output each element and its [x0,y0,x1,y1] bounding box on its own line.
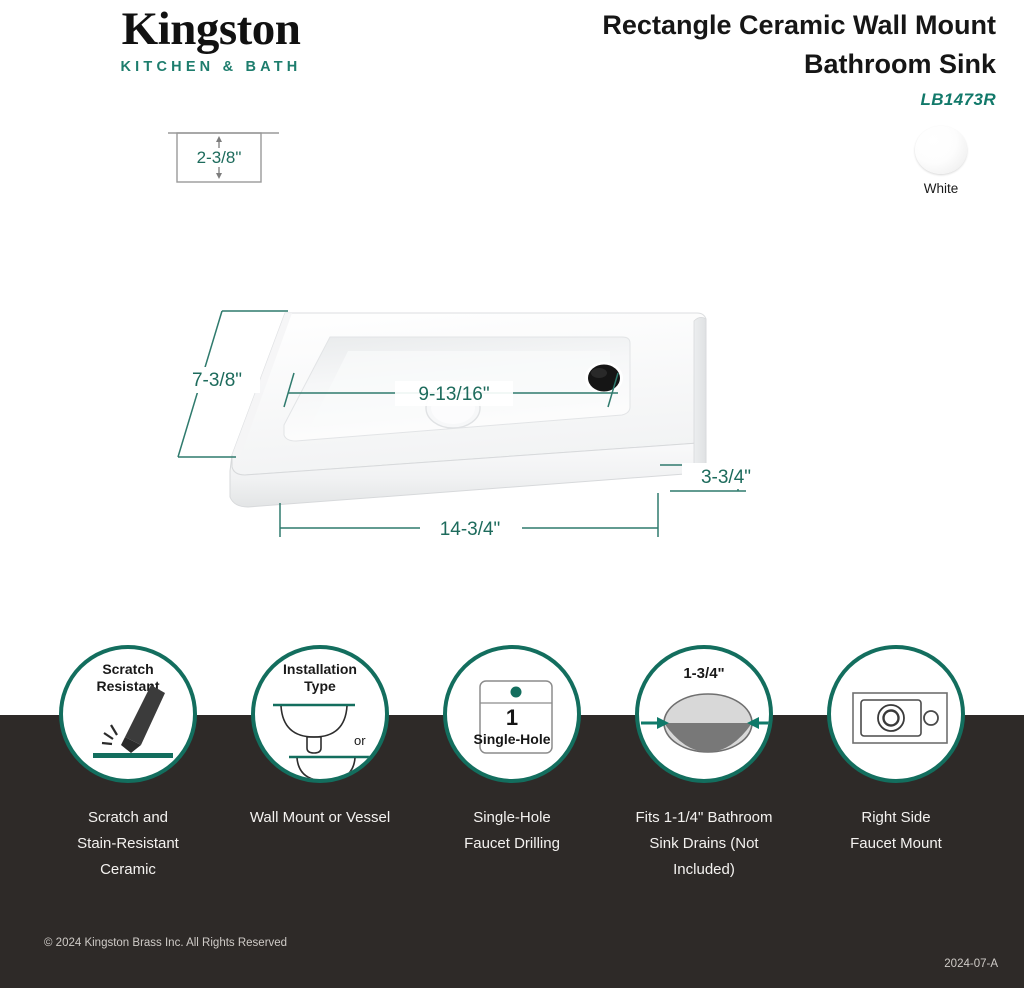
feature-drain-caption: Fits 1-1/4" Bathroom Sink Drains (Not In… [604,805,804,883]
single-hole-sublabel: Single-Hole [447,730,577,748]
drain-caption-line1: Fits 1-1/4" Bathroom [604,805,804,831]
right-side-caption-line2: Faucet Mount [796,831,996,857]
single-hole-caption-line2: Faucet Drilling [412,831,612,857]
right-side-caption-line1: Right Side [796,805,996,831]
dimension-front-to-back-label: 7-3/8" [192,370,242,391]
brand-name: Kingston [36,4,386,54]
side-profile-diagram: 2-3/8" [166,126,281,193]
finish-label: White [905,181,977,196]
sink-dimension-figure: 7-3/8" 9-13/16" 3-3/4" [170,285,770,560]
product-title-line1: Rectangle Ceramic Wall Mount [436,6,996,45]
scratch-resistant-icon: Scratch Resistant [59,645,197,783]
dimension-basin-width-label: 9-13/16" [418,384,489,405]
product-title-line2: Bathroom Sink [436,45,996,84]
install-caption-line1: Wall Mount or Vessel [220,805,420,831]
copyright-text: © 2024 Kingston Brass Inc. All Rights Re… [44,937,287,949]
product-title-block: Rectangle Ceramic Wall Mount Bathroom Si… [436,6,996,110]
feature-row: Scratch Resistant Scratch and Stain-Resi… [0,645,1024,905]
brand-logo: Kingston KITCHEN & BATH [36,4,386,75]
feature-single-hole-caption: Single-Hole Faucet Drilling [412,805,612,857]
profile-depth-label: 2-3/8" [197,148,242,167]
single-hole-caption-line1: Single-Hole [412,805,612,831]
spec-sheet-page: Kingston KITCHEN & BATH Rectangle Cerami… [0,0,1024,988]
dimension-height-label: 3-3/4" [701,467,751,488]
scratch-caption-line1: Scratch and [28,805,228,831]
feature-right-side-mount: Right Side Faucet Mount [796,645,996,857]
feature-installation-type: Installation Type or Wall Mount or Vesse… [220,645,420,831]
feature-scratch-caption: Scratch and Stain-Resistant Ceramic [28,805,228,883]
installation-type-icon: Installation Type or [251,645,389,783]
brand-tagline: KITCHEN & BATH [36,59,386,75]
feature-drain-size: 1-3/4" Fits 1-1/4" Bathroom Sink Drains … [604,645,804,883]
drain-size-icon: 1-3/4" [635,645,773,783]
revision-code: 2024-07-A [944,958,998,970]
drain-caption-line3: Included) [604,857,804,883]
finish-swatch: White [905,126,977,196]
feature-single-hole: 1 Single-Hole Single-Hole Faucet Drillin… [412,645,612,857]
installation-or-label: or [354,733,366,748]
sink-illustration [230,313,706,507]
right-side-faucet-mount-icon [827,645,965,783]
single-hole-number: 1 [447,705,577,730]
white-swatch-circle [915,126,967,174]
product-model-number: LB1473R [436,90,996,110]
single-hole-icon-text: 1 Single-Hole [447,705,577,748]
feature-installation-caption: Wall Mount or Vessel [220,805,420,831]
drain-caption-line2: Sink Drains (Not [604,831,804,857]
dimension-overall-width-label: 14-3/4" [440,519,501,540]
scratch-caption-line3: Ceramic [28,857,228,883]
scratch-caption-line2: Stain-Resistant [28,831,228,857]
feature-right-side-caption: Right Side Faucet Mount [796,805,996,857]
single-hole-drilling-icon: 1 Single-Hole [443,645,581,783]
feature-scratch-resistant: Scratch Resistant Scratch and Stain-Resi… [28,645,228,883]
